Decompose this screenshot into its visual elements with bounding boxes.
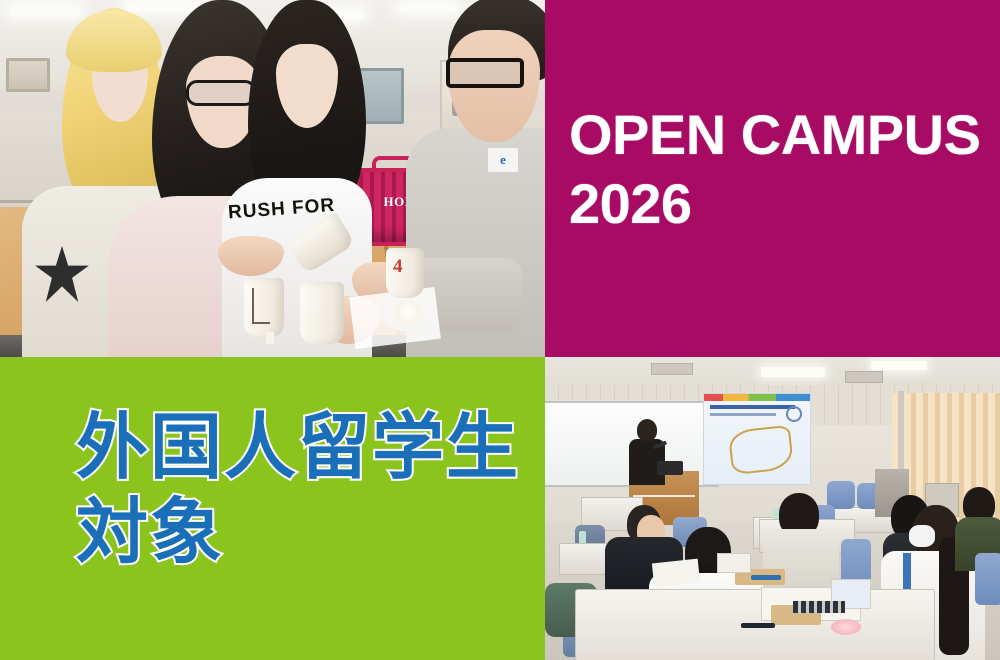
- cup-marking: [252, 288, 270, 324]
- open-campus-banner: HOMES RUSH FOR e: [0, 0, 1000, 660]
- ceiling-light-icon: [126, 2, 204, 11]
- laptop-icon: [657, 461, 683, 475]
- paper-cup-red-mark: 4: [386, 248, 424, 298]
- page-title-year: 2026: [569, 169, 1000, 238]
- student-torso: [763, 529, 839, 595]
- ceiling-light-icon: [398, 4, 458, 12]
- slide-subtitle-line: [710, 413, 776, 416]
- page-title: OPEN CAMPUS: [569, 100, 1000, 169]
- paper-sheet: [717, 553, 751, 573]
- projector-screen: [703, 393, 811, 485]
- classroom-chair: [975, 553, 1000, 605]
- photo-lab-experiment: HOMES RUSH FOR e: [0, 0, 545, 357]
- ceiling-light-icon: [10, 6, 80, 16]
- eyeglasses-icon: [186, 80, 256, 106]
- face-mask-icon: [909, 525, 935, 547]
- pen: [751, 575, 781, 580]
- teacher-eyeglasses-icon: [446, 58, 524, 88]
- cup-red-marking: 4: [393, 256, 403, 278]
- ceiling-vent-icon: [651, 363, 693, 375]
- paper-sheet: [652, 559, 700, 588]
- uniform-badge-icon: e: [488, 148, 518, 172]
- target-audience-line1: 外国人留学生: [76, 405, 545, 490]
- presenter-head: [637, 419, 657, 441]
- ceiling-vent-icon: [845, 371, 883, 383]
- paper-cup-marked: [244, 278, 284, 338]
- ceiling-light-icon: [871, 361, 927, 370]
- lab-wall-panel: [6, 58, 50, 92]
- pen: [741, 623, 775, 628]
- open-campus-title-panel: OPEN CAMPUS 2026: [545, 0, 1000, 357]
- candy-bowl: [831, 619, 861, 635]
- ceiling-light-icon: [761, 367, 825, 377]
- slide-title-line: [710, 405, 795, 409]
- electronic-components: [793, 601, 845, 613]
- target-audience-panel: 外国人留学生 対象: [0, 357, 545, 660]
- paper-cup-plain: [300, 282, 344, 344]
- slide-seal-icon: [786, 406, 802, 422]
- small-paper-piece: [266, 332, 274, 344]
- target-audience-line2: 対象: [76, 490, 545, 575]
- slide-diagram: [728, 425, 794, 475]
- photo-classroom-presentation: [545, 357, 1000, 660]
- slide-color-bar: [704, 394, 810, 401]
